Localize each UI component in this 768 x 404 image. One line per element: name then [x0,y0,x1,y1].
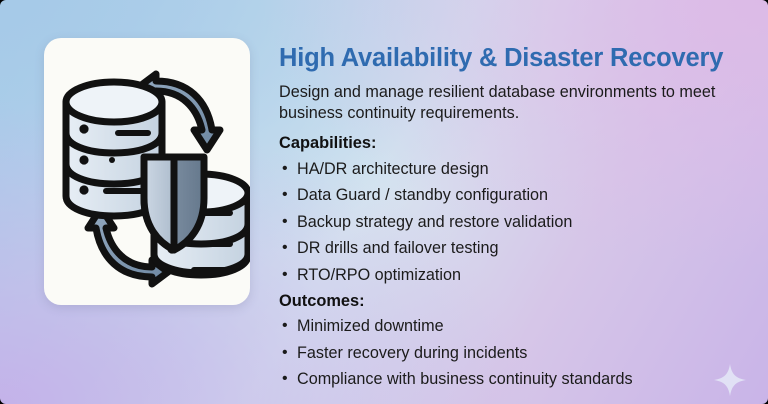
list-item: Minimized downtime [279,313,751,340]
icon-card [44,38,250,305]
outcomes-list: Minimized downtime Faster recovery durin… [279,313,751,393]
text-content: High Availability & Disaster Recovery De… [279,44,751,393]
list-item: Faster recovery during incidents [279,340,751,367]
list-item: Data Guard / standby configuration [279,182,751,209]
list-item: RTO/RPO optimization [279,262,751,289]
slide-canvas: High Availability & Disaster Recovery De… [0,0,768,404]
outcomes-heading: Outcomes: [279,291,751,312]
security-shield [144,157,204,250]
subtitle: Design and manage resilient database env… [279,82,729,125]
list-item: HA/DR architecture design [279,156,751,183]
page-title: High Availability & Disaster Recovery [279,44,751,73]
capabilities-list: HA/DR architecture design Data Guard / s… [279,156,751,289]
capabilities-heading: Capabilities: [279,133,751,154]
sparkle-icon [714,364,746,396]
list-item: Backup strategy and restore validation [279,209,751,236]
database-replication-shield-icon [44,38,250,305]
list-item: DR drills and failover testing [279,235,751,262]
list-item: Compliance with business continuity stan… [279,366,751,393]
